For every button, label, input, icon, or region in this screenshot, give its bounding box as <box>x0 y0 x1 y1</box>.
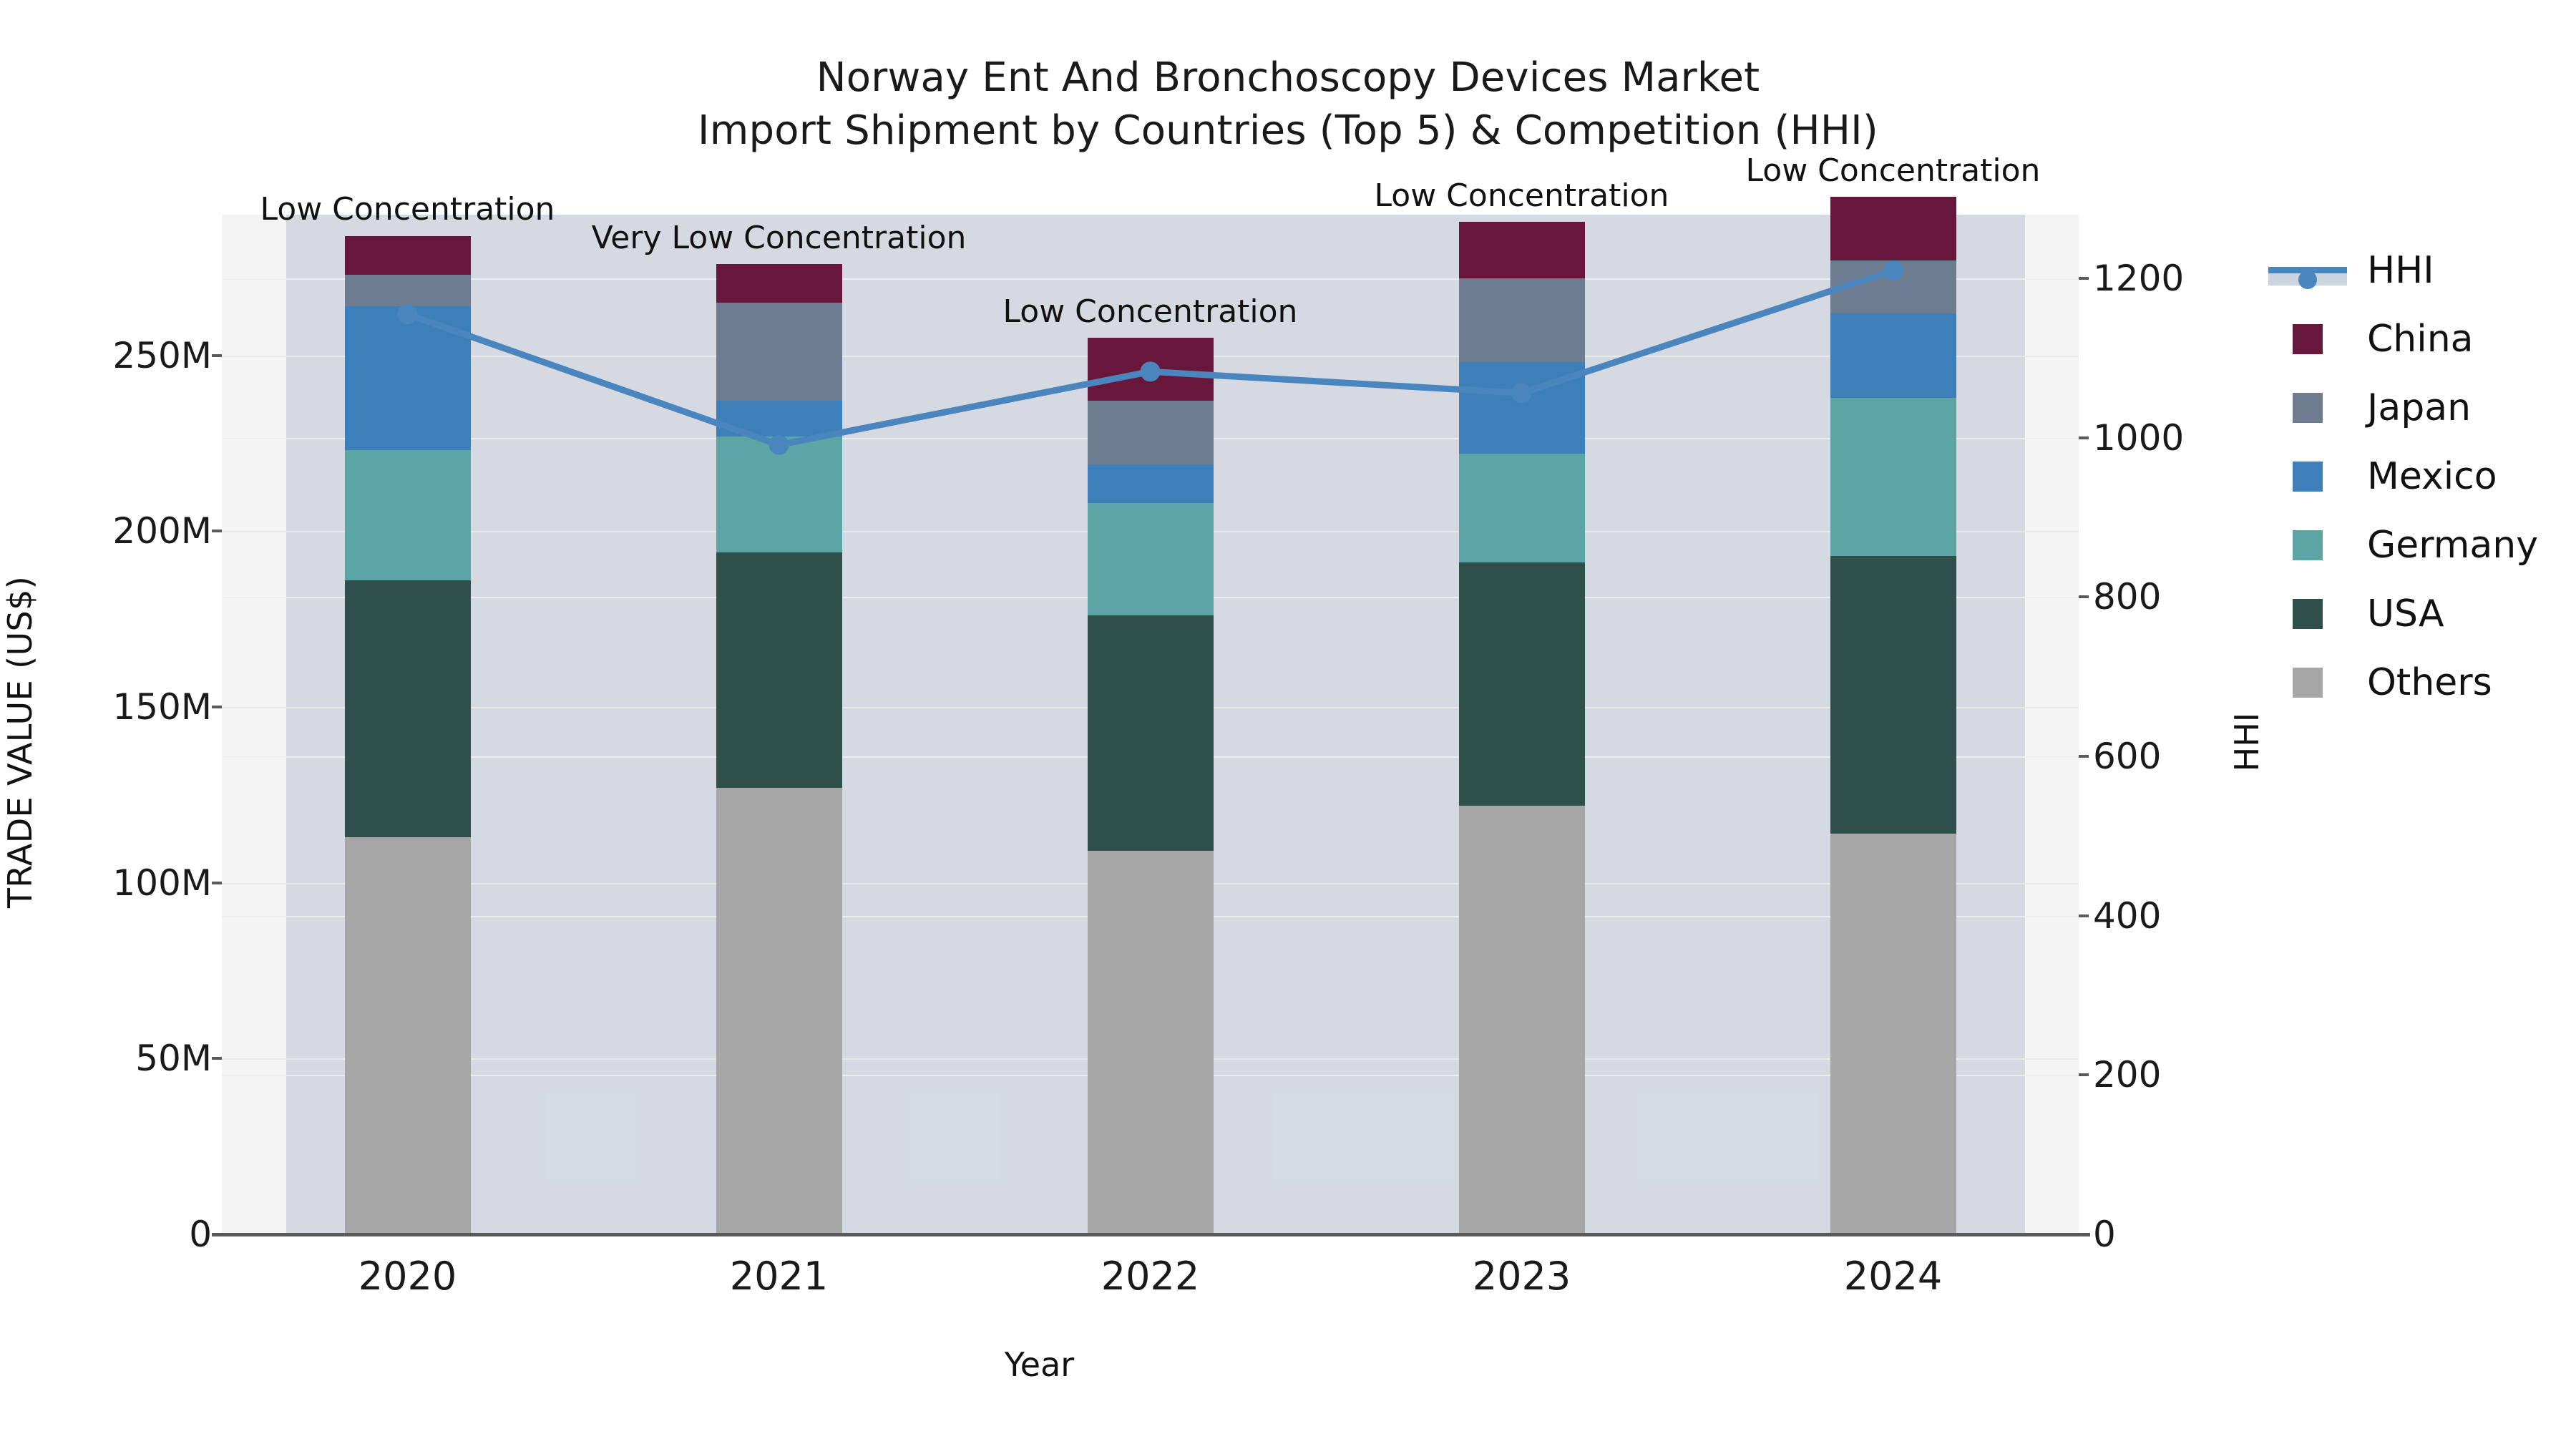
bar-segment-china[interactable] <box>1830 197 1956 260</box>
y-tick-mark-right <box>2079 595 2089 598</box>
legend-swatch-icon <box>2261 318 2354 361</box>
legend-label: Germany <box>2354 527 2538 564</box>
bar-segment-usa[interactable] <box>1459 562 1585 805</box>
chart-root: Norway Ent And Bronchoscopy Devices Mark… <box>0 0 2576 1449</box>
y-tick-mark-right <box>2079 914 2089 917</box>
legend: HHIChinaJapanMexicoGermanyUSAOthers <box>2261 236 2569 717</box>
annotation-2023: Low Concentration <box>1375 177 1669 214</box>
legend-swatch-icon <box>2261 455 2354 498</box>
y-tick-label-left: 50M <box>135 1038 212 1079</box>
hhi-line-icon <box>2268 254 2347 287</box>
y-tick-label-left: 0 <box>189 1214 212 1255</box>
bar-segment-japan[interactable] <box>1830 260 1956 313</box>
legend-swatch-icon <box>2261 661 2354 704</box>
y-tick-mark-left <box>212 530 222 532</box>
annotation-2020: Low Concentration <box>260 191 555 228</box>
bar-segment-germany[interactable] <box>345 450 471 580</box>
bar-segment-germany[interactable] <box>1459 454 1585 562</box>
swatch-japan <box>2293 393 2323 423</box>
y-tick-mark-left <box>212 706 222 708</box>
bar-segment-japan[interactable] <box>345 275 471 306</box>
bar-segment-others[interactable] <box>1088 851 1214 1234</box>
legend-label: Others <box>2354 664 2492 701</box>
bar-segment-japan[interactable] <box>1088 401 1214 464</box>
legend-label: USA <box>2354 595 2444 633</box>
bar-segment-mexico[interactable] <box>1088 464 1214 503</box>
legend-item-japan[interactable]: Japan <box>2261 374 2569 442</box>
y-tick-label-right: 0 <box>2093 1214 2116 1255</box>
y-tick-label-left: 250M <box>112 335 212 376</box>
bar-segment-china[interactable] <box>716 264 842 303</box>
y-tick-mark-left <box>212 354 222 357</box>
bar-segment-china[interactable] <box>1459 222 1585 278</box>
annotation-2021: Very Low Concentration <box>592 220 967 256</box>
swatch-others <box>2293 668 2323 698</box>
bar-segment-germany[interactable] <box>1830 398 1956 556</box>
x-tick-label-2023: 2023 <box>1473 1254 1571 1299</box>
legend-label: Japan <box>2354 389 2471 426</box>
swatch-mexico <box>2293 462 2323 492</box>
bar-segment-mexico[interactable] <box>1830 313 1956 398</box>
bar-segment-usa[interactable] <box>716 552 842 788</box>
stacked-bar[interactable] <box>1830 197 1956 1234</box>
bar-segment-usa[interactable] <box>1830 556 1956 834</box>
legend-dot <box>2298 270 2317 289</box>
swatch-usa <box>2293 599 2323 629</box>
bar-segment-others[interactable] <box>1830 834 1956 1234</box>
title-line-2: Import Shipment by Countries (Top 5) & C… <box>0 104 2576 157</box>
x-tick-label-2024: 2024 <box>1844 1254 1942 1299</box>
legend-label: Mexico <box>2354 458 2497 495</box>
y-tick-mark-right <box>2079 1073 2089 1076</box>
annotation-2022: Low Concentration <box>1003 293 1298 330</box>
bar-segment-usa[interactable] <box>345 580 471 837</box>
plot-area <box>222 215 2079 1234</box>
stacked-bar[interactable] <box>1088 338 1214 1234</box>
stacked-bar[interactable] <box>1459 222 1585 1234</box>
y-tick-mark-left <box>212 1233 222 1236</box>
swatch-china <box>2293 324 2323 354</box>
x-axis-line <box>212 1233 2090 1236</box>
y-axis-left-label: TRADE VALUE (US$) <box>1 470 39 1014</box>
legend-label: HHI <box>2354 252 2434 289</box>
bar-segment-germany[interactable] <box>716 436 842 552</box>
y-tick-mark-right <box>2079 277 2089 280</box>
legend-item-usa[interactable]: USA <box>2261 580 2569 648</box>
legend-item-hhi[interactable]: HHI <box>2261 236 2569 305</box>
y-tick-label-right: 400 <box>2093 895 2161 937</box>
y-tick-label-left: 100M <box>112 862 212 904</box>
bar-segment-china[interactable] <box>345 236 471 275</box>
annotation-2024: Low Concentration <box>1746 152 2041 189</box>
y-tick-label-right: 1200 <box>2093 258 2184 299</box>
legend-line-marker-icon <box>2261 249 2354 292</box>
swatch-germany <box>2293 530 2323 560</box>
y-tick-label-right: 1000 <box>2093 417 2184 459</box>
legend-item-others[interactable]: Others <box>2261 648 2569 717</box>
chart-title: Norway Ent And Bronchoscopy Devices Mark… <box>0 52 2576 157</box>
y-tick-label-right: 800 <box>2093 576 2161 618</box>
y-tick-mark-right <box>2079 436 2089 439</box>
legend-swatch-icon <box>2261 386 2354 429</box>
legend-label: China <box>2354 321 2474 358</box>
bar-segment-mexico[interactable] <box>345 306 471 450</box>
bar-segment-china[interactable] <box>1088 338 1214 401</box>
y-tick-mark-left <box>212 1057 222 1060</box>
stacked-bar[interactable] <box>345 236 471 1234</box>
legend-swatch-icon <box>2261 592 2354 635</box>
y-tick-label-left: 150M <box>112 686 212 728</box>
y-axis-right-label: HHI <box>2228 656 2266 828</box>
bar-segment-others[interactable] <box>1459 806 1585 1234</box>
y-tick-mark-right <box>2079 755 2089 758</box>
legend-item-china[interactable]: China <box>2261 305 2569 374</box>
bar-segment-germany[interactable] <box>1088 503 1214 615</box>
y-tick-label-right: 600 <box>2093 736 2161 777</box>
y-tick-mark-left <box>212 882 222 884</box>
x-tick-label-2021: 2021 <box>730 1254 828 1299</box>
legend-swatch-icon <box>2261 524 2354 567</box>
legend-item-germany[interactable]: Germany <box>2261 511 2569 580</box>
y-tick-label-right: 200 <box>2093 1054 2161 1096</box>
bar-segment-others[interactable] <box>345 837 471 1234</box>
bar-segment-japan[interactable] <box>1459 278 1585 363</box>
bar-segment-others[interactable] <box>716 788 842 1234</box>
bar-segment-mexico[interactable] <box>716 401 842 436</box>
plot-inner <box>222 215 2079 1234</box>
gridline-right <box>222 278 2079 280</box>
title-line-1: Norway Ent And Bronchoscopy Devices Mark… <box>0 52 2576 104</box>
bar-segment-japan[interactable] <box>716 303 842 401</box>
y-tick-mark-right <box>2079 1233 2089 1236</box>
legend-item-mexico[interactable]: Mexico <box>2261 442 2569 511</box>
bar-segment-mexico[interactable] <box>1459 362 1585 454</box>
x-tick-label-2020: 2020 <box>358 1254 457 1299</box>
stacked-bar[interactable] <box>716 264 842 1234</box>
y-tick-label-left: 200M <box>112 510 212 552</box>
bar-segment-usa[interactable] <box>1088 615 1214 851</box>
x-tick-label-2022: 2022 <box>1101 1254 1199 1299</box>
x-axis-label: Year <box>0 1345 2079 1384</box>
